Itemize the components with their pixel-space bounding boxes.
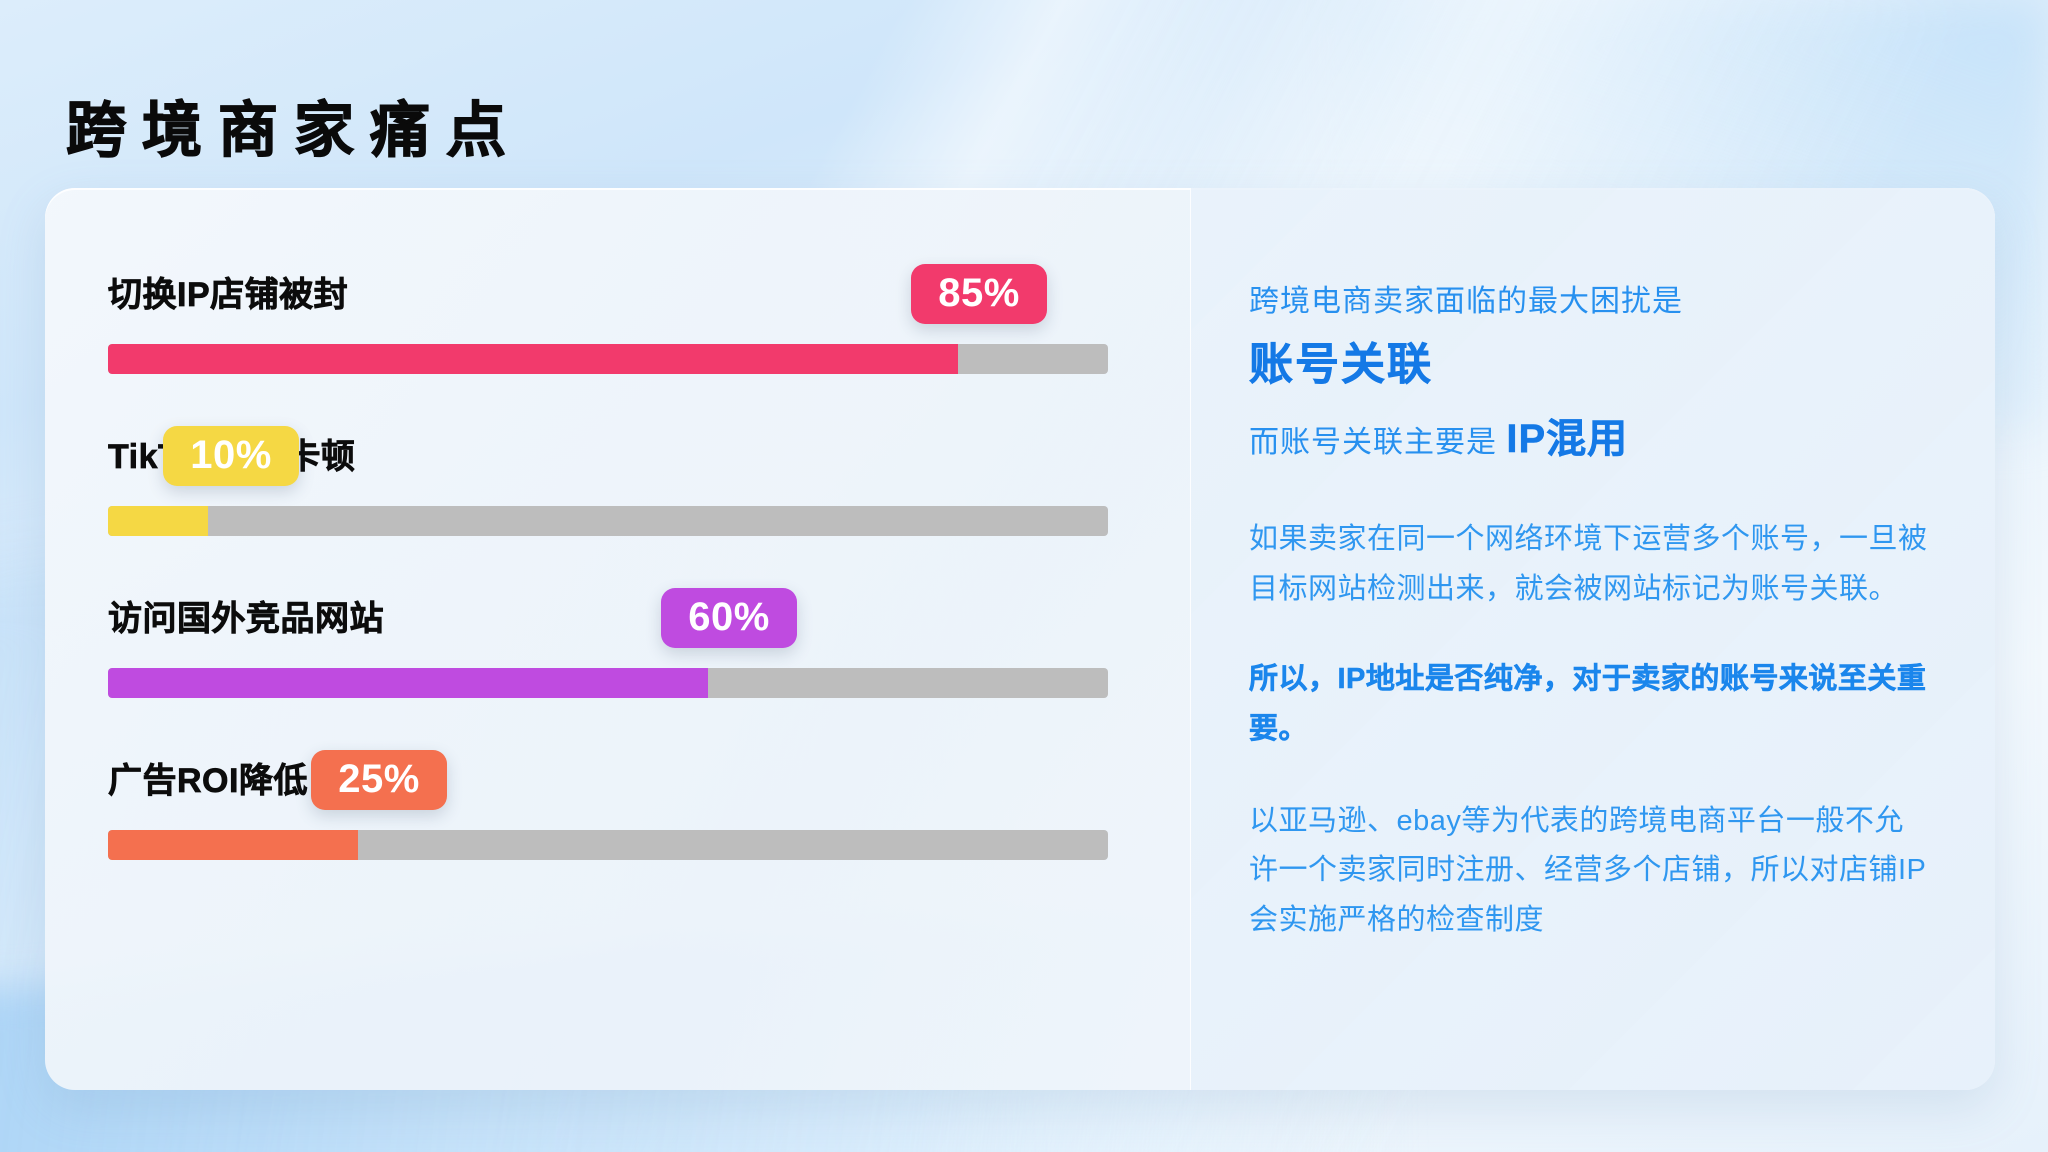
bar-value-badge: 85% <box>911 264 1047 324</box>
bar-value-badge: 10% <box>163 426 299 486</box>
bar-label: 广告ROI降低 <box>108 753 308 802</box>
bar-value-badge: 25% <box>311 750 447 810</box>
page-title: 跨境商家痛点 <box>66 96 522 165</box>
explanation-panel: 跨境电商卖家面临的最大困扰是 账号关联 而账号关联主要是 IP混用 如果卖家在同… <box>1190 188 1995 1090</box>
bar-fill <box>108 830 358 860</box>
bar-header: 访问国外竞品网站 60% <box>108 572 1150 646</box>
bar-track <box>108 344 1108 374</box>
bar-row: 广告ROI降低 25% <box>45 734 1190 896</box>
bar-track <box>108 668 1108 698</box>
bar-fill <box>108 506 208 536</box>
headline-text: 账号关联 <box>1249 334 1933 396</box>
content-card: 切换IP店铺被封 85% TikTok直播卡顿 10% 访问国外竞品网站 <box>45 188 1995 1090</box>
bar-header: TikTok直播卡顿 10% <box>108 410 1150 484</box>
bar-track <box>108 506 1108 536</box>
pain-point-bar-chart: 切换IP店铺被封 85% TikTok直播卡顿 10% 访问国外竞品网站 <box>45 188 1190 1090</box>
bar-fill <box>108 344 958 374</box>
bar-row: TikTok直播卡顿 10% <box>45 410 1190 572</box>
paragraph-2: 所以，IP地址是否纯净，对于卖家的账号来说至关重要。 <box>1249 655 1933 755</box>
lead-text: 跨境电商卖家面临的最大困扰是 <box>1249 280 1933 324</box>
bar-value-badge: 60% <box>661 588 797 648</box>
bar-row: 访问国外竞品网站 60% <box>45 572 1190 734</box>
bar-label: 切换IP店铺被封 <box>108 267 348 316</box>
bar-fill <box>108 668 708 698</box>
paragraph-3: 以亚马逊、ebay等为代表的跨境电商平台一般不允许一个卖家同时注册、经营多个店铺… <box>1249 797 1933 947</box>
paragraph-1: 如果卖家在同一个网络环境下运营多个账号，一旦被目标网站检测出来，就会被网站标记为… <box>1249 515 1933 615</box>
subheadline-emphasis: IP混用 <box>1506 417 1628 461</box>
bar-track <box>108 830 1108 860</box>
subheadline-prefix: 而账号关联主要是 <box>1249 426 1497 459</box>
bar-row: 切换IP店铺被封 85% <box>45 248 1190 410</box>
bar-header: 广告ROI降低 25% <box>108 734 1150 808</box>
bar-label: 访问国外竞品网站 <box>108 591 384 640</box>
bar-header: 切换IP店铺被封 85% <box>108 248 1150 322</box>
subheadline-row: 而账号关联主要是 IP混用 <box>1249 409 1933 469</box>
slide-canvas: 跨境商家痛点 切换IP店铺被封 85% TikTok直播卡顿 10% <box>0 0 2048 1152</box>
